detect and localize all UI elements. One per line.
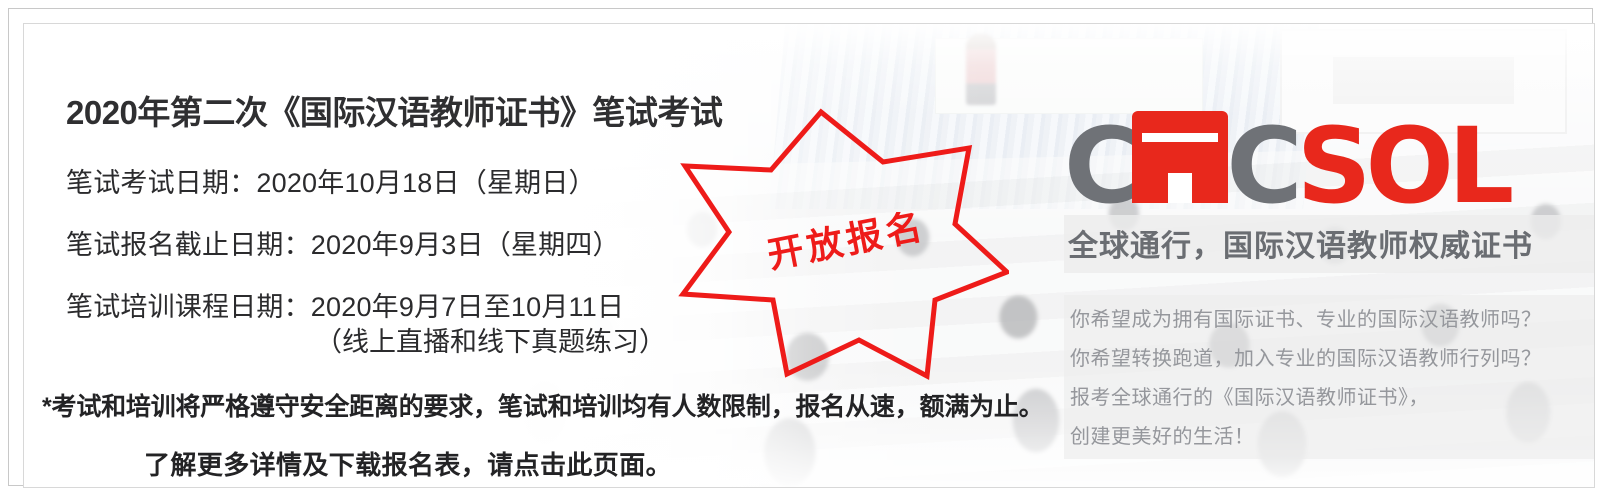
training-course-format-line: （线上直播和线下真题练习） bbox=[66, 320, 666, 359]
brand-tagline: 全球通行，国际汉语教师权威证书 bbox=[1068, 221, 1595, 265]
tagline-band: 全球通行，国际汉语教师权威证书 bbox=[1064, 215, 1595, 273]
open-registration-stamp: 开放报名 bbox=[669, 104, 1009, 384]
safety-note-line: *考试和培训将严格遵守安全距离的要求，笔试和培训均有人数限制，报名从速，额满为止… bbox=[42, 387, 1044, 423]
banner-root: 2020年第二次《国际汉语教师证书》笔试考试 笔试考试日期：2020年10月18… bbox=[0, 0, 1600, 495]
banner-outer-frame: 2020年第二次《国际汉语教师证书》笔试考试 笔试考试日期：2020年10月18… bbox=[8, 8, 1593, 486]
logo-letters-sol: SOL bbox=[1297, 124, 1509, 209]
blurb-line-4: 创建更美好的生活！ bbox=[1070, 420, 1595, 449]
registration-deadline-line: 笔试报名截止日期：2020年9月3日（星期四） bbox=[66, 223, 620, 262]
blurb-line-3: 报考全球通行的《国际汉语教师证书》， bbox=[1070, 381, 1595, 410]
ctcsol-logo: C C SOL bbox=[1064, 104, 1595, 209]
logo-letter-t-glyph bbox=[1132, 111, 1228, 203]
logo-t-notch bbox=[1168, 173, 1192, 203]
brand-blurb: 你希望成为拥有国际证书、专业的国际汉语教师吗？ 你希望转换跑道，加入专业的国际汉… bbox=[1064, 295, 1595, 459]
logo-letter-c2: C bbox=[1226, 124, 1296, 209]
page-title: 2020年第二次《国际汉语教师证书》笔试考试 bbox=[66, 86, 722, 134]
exam-date-line: 笔试考试日期：2020年10月18日（星期日） bbox=[66, 161, 596, 200]
call-to-action-link[interactable]: 了解更多详情及下载报名表，请点击此页面。 bbox=[144, 445, 672, 482]
banner-inner-frame: 2020年第二次《国际汉语教师证书》笔试考试 笔试考试日期：2020年10月18… bbox=[23, 23, 1595, 488]
blurb-line-1: 你希望成为拥有国际证书、专业的国际汉语教师吗？ bbox=[1070, 303, 1595, 332]
blurb-line-2: 你希望转换跑道，加入专业的国际汉语教师行列吗？ bbox=[1070, 342, 1595, 371]
brand-block: C C SOL 全球通行，国际汉语教师权威证书 你希望成为拥有国际证书、专业的国… bbox=[1064, 104, 1595, 459]
logo-letter-c1: C bbox=[1064, 124, 1134, 209]
logo-t-slit bbox=[1142, 133, 1218, 142]
training-course-date-line: 笔试培训课程日期：2020年9月7日至10月11日 bbox=[66, 285, 624, 324]
